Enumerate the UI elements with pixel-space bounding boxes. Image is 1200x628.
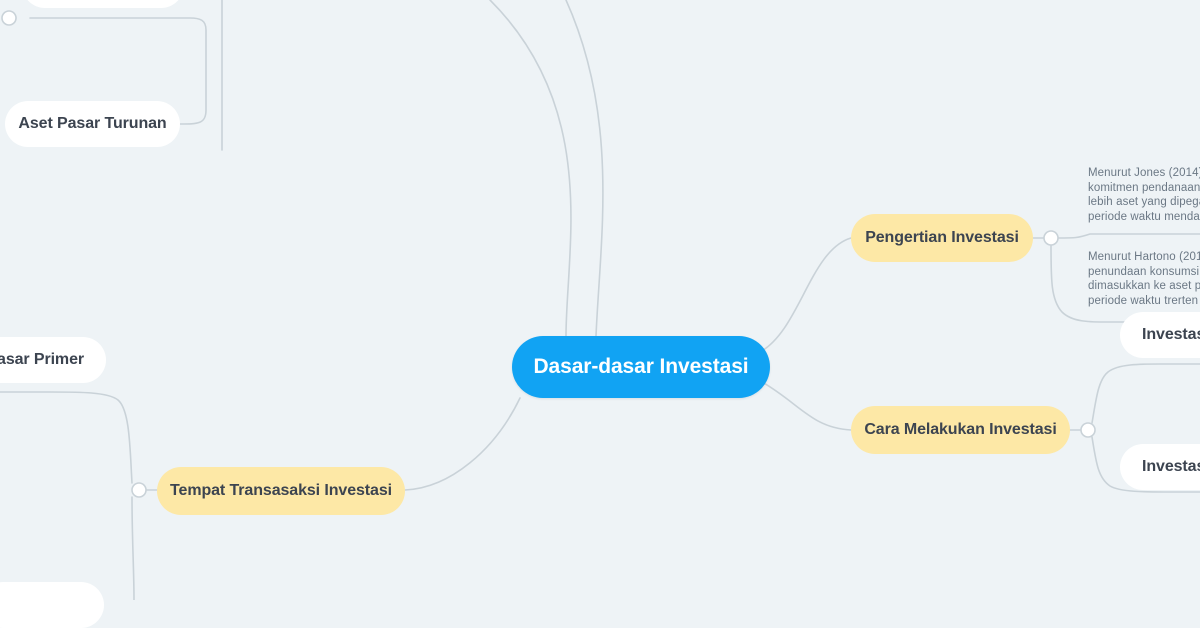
note-jones[interactable]: Menurut Jones (2014) komitmen pendanaan … — [1088, 166, 1200, 224]
root-node[interactable]: Dasar-dasar Investasi — [512, 336, 770, 398]
connector-pengertian — [1044, 231, 1058, 245]
leaf-node-pasar-primer[interactable]: Pasar Primer — [0, 337, 106, 383]
leaf-node-investasi-right-top[interactable]: Investasi — [1120, 312, 1200, 358]
note-hartono[interactable]: Menurut Hartono (201 penundaan konsumsi … — [1088, 250, 1200, 308]
leaf-node-bottom-clipped[interactable] — [0, 582, 104, 628]
leaf-label-aset-pasar-turunan: Aset Pasar Turunan — [18, 115, 166, 133]
edge-root-pengertian — [760, 238, 851, 352]
leaf-label-investasi-right-top: Investasi — [1142, 326, 1200, 344]
connector-top-left — [2, 11, 16, 25]
root-node-label: Dasar-dasar Investasi — [533, 355, 748, 379]
leaf-node-top-clipped[interactable] — [22, 0, 184, 8]
mindmap-canvas[interactable]: Dasar-dasar Investasi Pengertian Investa… — [0, 0, 1200, 600]
branch-label-cara-melakukan-investasi: Cara Melakukan Investasi — [864, 421, 1056, 439]
connector-cara — [1081, 423, 1095, 437]
edge-root-cara — [762, 382, 851, 430]
leaf-label-pasar-primer: Pasar Primer — [0, 351, 84, 369]
edge-connector-tempat-up — [0, 392, 132, 483]
connector-tempat — [132, 483, 146, 497]
edge-connector-note-jones — [1058, 234, 1200, 238]
edge-root-tempat — [405, 398, 520, 490]
leaf-node-aset-pasar-turunan[interactable]: Aset Pasar Turunan — [5, 101, 180, 147]
branch-node-cara-melakukan-investasi[interactable]: Cara Melakukan Investasi — [851, 406, 1070, 454]
edge-root-upper-clipped-2 — [566, 0, 603, 336]
leaf-node-investasi-right-bottom[interactable]: Investasi — [1120, 444, 1200, 490]
branch-node-pengertian-investasi[interactable]: Pengertian Investasi — [851, 214, 1033, 262]
branch-node-tempat-transasaksi-investasi[interactable]: Tempat Transasaksi Investasi — [157, 467, 405, 515]
leaf-label-investasi-right-bottom: Investasi — [1142, 458, 1200, 476]
edge-root-upper-clipped — [490, 0, 571, 336]
branch-label-tempat-transasaksi-investasi: Tempat Transasaksi Investasi — [170, 482, 392, 500]
branch-label-pengertian-investasi: Pengertian Investasi — [865, 229, 1019, 247]
edge-connector-tempat-down — [132, 497, 134, 600]
edge-connector-cara-up — [1092, 364, 1200, 423]
